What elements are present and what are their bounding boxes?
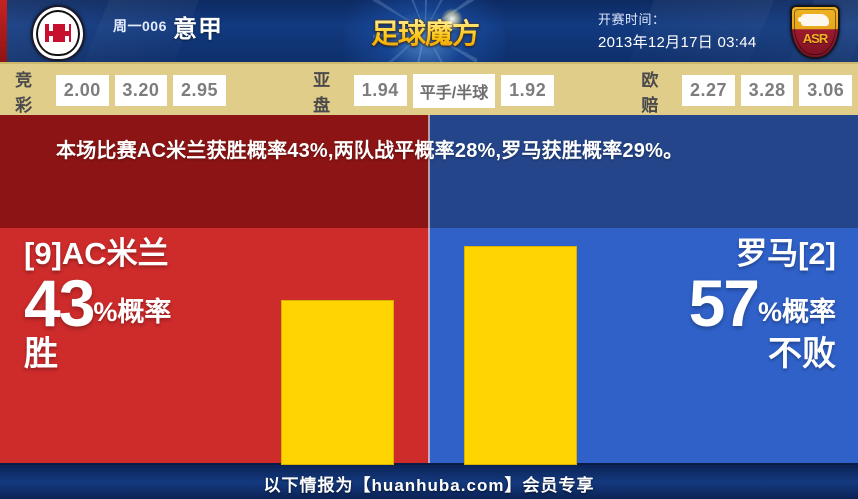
footer-bar: 以下情报为【huanhuba.com】会员专享: [0, 463, 858, 499]
crest-bottom-band: [38, 42, 78, 51]
odds-cell-draw[interactable]: 3.28: [741, 75, 794, 106]
league-label: 意甲: [173, 9, 223, 44]
header-accent-stripe: [0, 0, 7, 62]
odds-cell-home[interactable]: 2.00: [56, 75, 109, 106]
home-team-panel: [9]AC米兰 43 %概率 胜: [0, 115, 429, 463]
odds-group-jingcai: 竞彩 2.00 3.20 2.95: [15, 66, 232, 116]
brand-logo-text: 足球魔方: [345, 12, 505, 52]
odds-group-label: 欧赔: [641, 66, 675, 116]
header-bar: 周一006 意甲 足球魔方 开赛时间： 2013年12月17日 03:44 AS…: [0, 0, 858, 62]
away-probability-value: 57: [689, 273, 758, 334]
kickoff-time: 2013年12月17日 03:44: [598, 31, 757, 52]
probability-panel: [9]AC米兰 43 %概率 胜 罗马[2] 57 %概率 不败: [0, 115, 858, 463]
kickoff-label: 开赛时间：: [598, 9, 666, 28]
odds-bar: 竞彩 2.00 3.20 2.95 亚盘 1.94 平手/半球 1.92 欧赔 …: [0, 62, 858, 119]
away-summary-band: [429, 115, 858, 228]
odds-cell-away[interactable]: 2.95: [173, 75, 226, 106]
odds-group-oupei: 欧赔 2.27 3.28 3.06: [641, 66, 858, 116]
home-team-stats: [9]AC米兰 43 %概率 胜: [24, 238, 171, 371]
odds-group-label: 竞彩: [15, 66, 49, 116]
probability-summary-text: 本场比赛AC米兰获胜概率43%,两队战平概率28%,罗马获胜概率29%。: [56, 137, 802, 166]
home-probability-bar: [281, 300, 394, 465]
odds-group-label: 亚盘: [313, 66, 347, 116]
panel-divider: [428, 115, 430, 463]
odds-cell-home[interactable]: 1.94: [354, 75, 407, 106]
brand-logo: 足球魔方: [345, 0, 505, 62]
footer-text: 以下情报为【huanhuba.com】会员专享: [264, 471, 595, 496]
home-summary-band: [0, 115, 429, 228]
logo-sparkle-icon: [441, 8, 463, 30]
home-probability-value: 43: [24, 273, 93, 334]
away-team-panel: 罗马[2] 57 %概率 不败: [429, 115, 858, 463]
match-probability-infographic: 周一006 意甲 足球魔方 开赛时间： 2013年12月17日 03:44 AS…: [0, 0, 858, 499]
home-team-name: [9]AC米兰: [24, 238, 171, 269]
odds-cell-handicap[interactable]: 平手/半球: [413, 74, 496, 108]
away-probability-unit: %概率: [758, 299, 836, 334]
ac-milan-crest-icon: [31, 5, 85, 61]
away-outcome-label: 不败: [689, 337, 836, 371]
crest-cross-horizontal: [45, 31, 71, 36]
home-outcome-label: 胜: [24, 337, 171, 371]
odds-cell-home[interactable]: 2.27: [682, 75, 735, 106]
odds-cell-away[interactable]: 1.92: [501, 75, 554, 106]
round-label: 周一006: [113, 16, 167, 36]
odds-group-yapan: 亚盘 1.94 平手/半球 1.92: [313, 66, 560, 116]
roma-wolf-icon: [801, 14, 829, 26]
roma-crest-letters: ASR: [792, 31, 838, 46]
odds-cell-draw[interactable]: 3.20: [115, 75, 168, 106]
odds-cell-away[interactable]: 3.06: [799, 75, 852, 106]
crest-top-band: [38, 15, 78, 24]
away-team-name: 罗马[2]: [689, 238, 836, 269]
away-probability-bar: [464, 246, 577, 465]
away-team-stats: 罗马[2] 57 %概率 不败: [689, 238, 836, 371]
crest-ring: [36, 10, 80, 56]
home-probability-unit: %概率: [93, 299, 171, 334]
